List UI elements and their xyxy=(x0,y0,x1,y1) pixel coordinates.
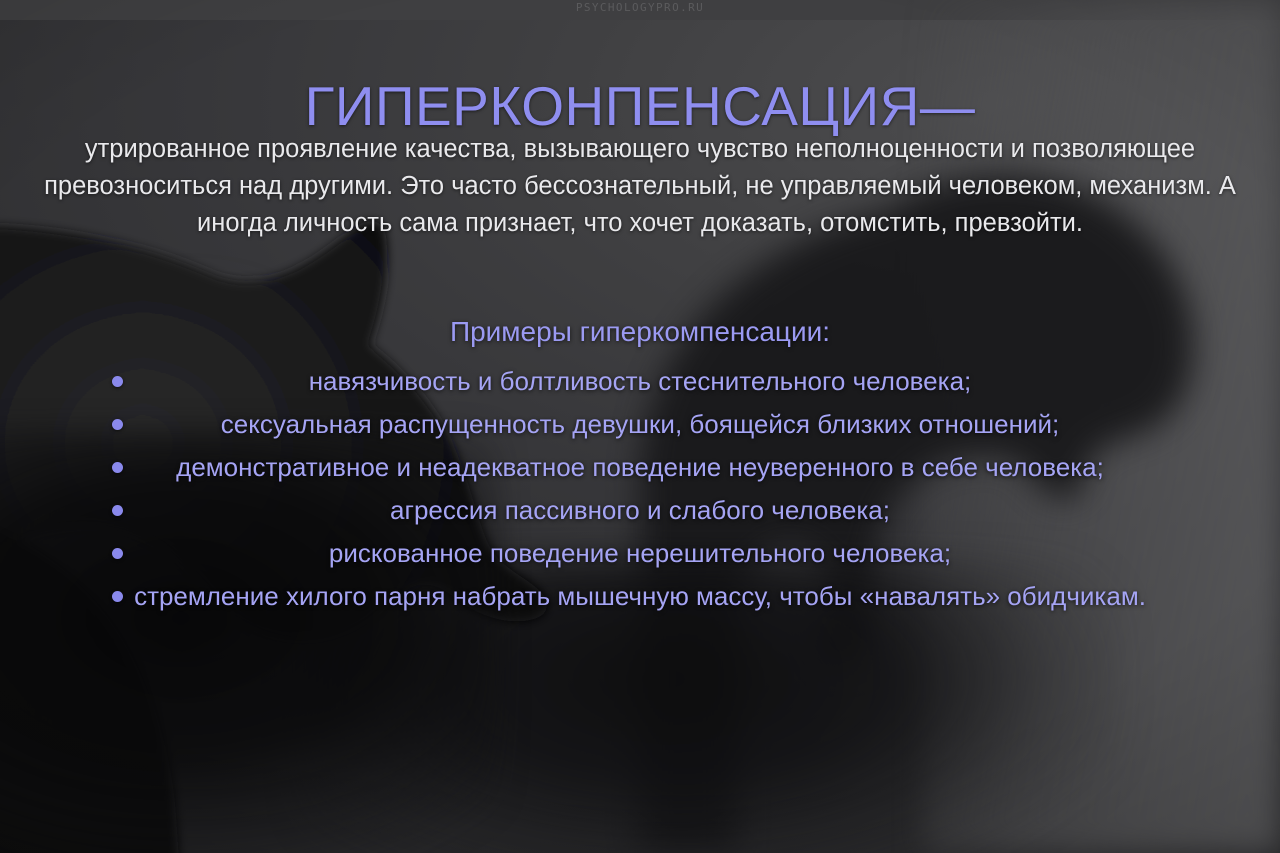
bullet-icon xyxy=(112,419,123,430)
list-item: навязчивость и болтливость стеснительног… xyxy=(60,360,1220,403)
list-item: сексуальная распущенность девушки, бояще… xyxy=(60,403,1220,446)
list-item-label: навязчивость и болтливость стеснительног… xyxy=(309,366,972,396)
page-title: ГИПЕРКОНПЕНСАЦИЯ— xyxy=(0,75,1280,137)
slide-content: PSYCHOLOGYPRO.RU ГИПЕРКОНПЕНСАЦИЯ— утрир… xyxy=(0,0,1280,853)
slide-canvas: PSYCHOLOGYPRO.RU ГИПЕРКОНПЕНСАЦИЯ— утрир… xyxy=(0,0,1280,853)
bullet-icon xyxy=(112,462,123,473)
bullet-icon xyxy=(112,505,123,516)
list-item: агрессия пассивного и слабого человека; xyxy=(60,489,1220,532)
list-item: рискованное поведение нерешительного чел… xyxy=(60,532,1220,575)
list-item-label: рискованное поведение нерешительного чел… xyxy=(329,538,951,568)
list-item: стремление хилого парня набрать мышечную… xyxy=(60,575,1220,618)
bullet-icon xyxy=(112,591,123,602)
bullet-icon xyxy=(112,548,123,559)
list-item: демонстративное и неадекватное поведение… xyxy=(60,446,1220,489)
list-item-label: агрессия пассивного и слабого человека; xyxy=(390,495,890,525)
list-item-label: демонстративное и неадекватное поведение… xyxy=(176,452,1104,482)
bullet-icon xyxy=(112,376,123,387)
list-item-label: стремление хилого парня набрать мышечную… xyxy=(134,581,1146,611)
examples-list: навязчивость и болтливость стеснительног… xyxy=(60,360,1220,618)
list-item-label: сексуальная распущенность девушки, бояще… xyxy=(221,409,1059,439)
examples-heading: Примеры гиперкомпенсации: xyxy=(0,314,1280,350)
definition-paragraph: утрированное проявление качества, вызыва… xyxy=(22,131,1258,242)
site-watermark: PSYCHOLOGYPRO.RU xyxy=(0,1,1280,14)
